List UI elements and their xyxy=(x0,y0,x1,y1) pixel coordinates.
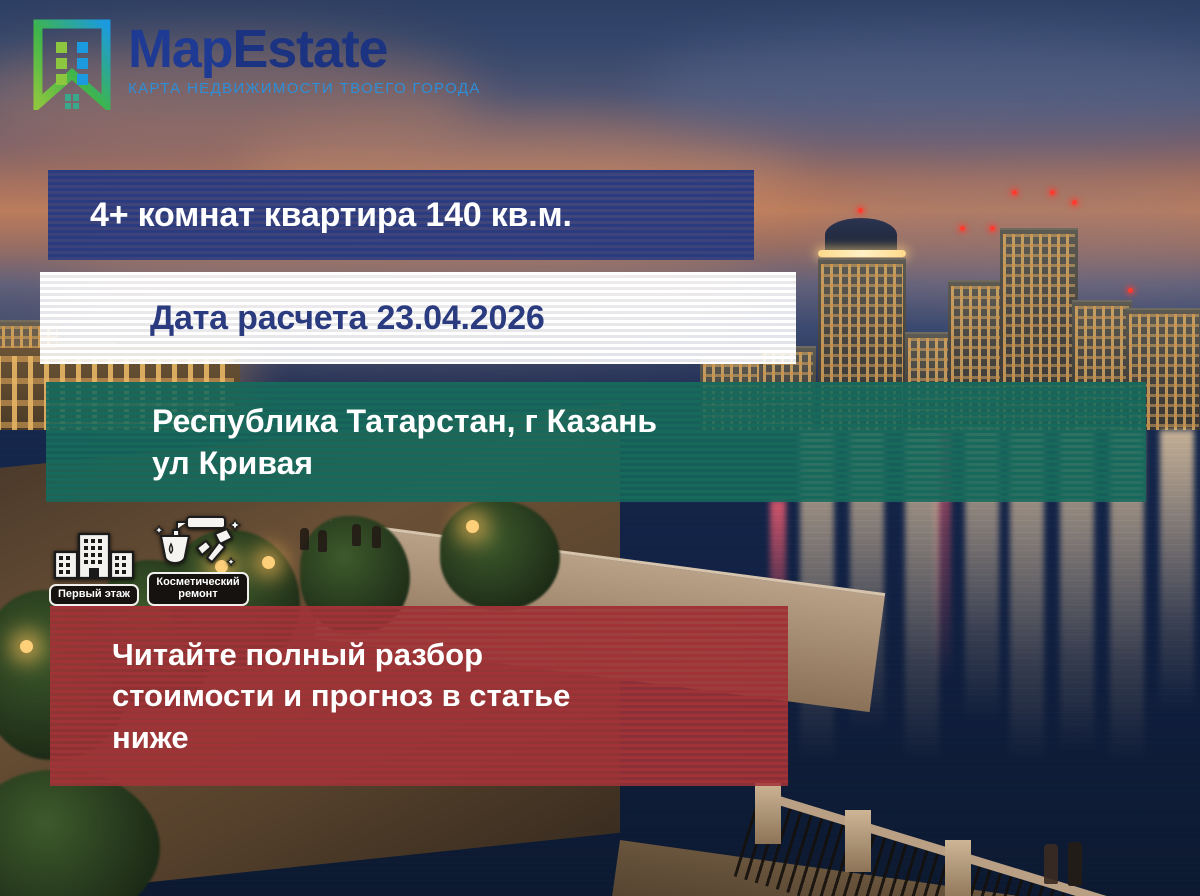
rooms-banner-text: 4+ комнат квартира 140 кв.м. xyxy=(48,196,754,235)
paint-tools-icon xyxy=(153,516,243,568)
feature-badges: Первый этаж xyxy=(48,516,244,606)
pedestrian xyxy=(352,524,361,546)
tree xyxy=(440,500,560,610)
address-banner: Республика Татарстан, г Казань ул Кривая xyxy=(46,382,1146,502)
cta-line-3: ниже xyxy=(112,717,788,758)
apartment-building-icon xyxy=(51,528,137,580)
badge-first-floor-label: Первый этаж xyxy=(49,584,139,606)
pedestrian xyxy=(300,528,309,550)
date-banner-text: Дата расчета 23.04.2026 xyxy=(40,299,796,338)
street-lamp xyxy=(262,556,275,569)
brand-name-part2: Estate xyxy=(232,19,387,79)
address-line-1: Республика Татарстан, г Казань xyxy=(152,400,1146,442)
rooms-banner: 4+ комнат квартира 140 кв.м. xyxy=(48,170,754,260)
brand-logo[interactable]: MapEstate КАРТА НЕДВИЖИМОСТИ ТВОЕГО ГОРО… xyxy=(30,18,481,110)
pedestrian xyxy=(318,530,327,552)
pedestrian xyxy=(372,526,381,548)
rail-post xyxy=(845,810,871,872)
badge-first-floor[interactable]: Первый этаж xyxy=(48,528,140,606)
rail-post xyxy=(755,782,781,844)
cta-line-2: стоимости и прогноз в статье xyxy=(112,675,788,716)
cta-banner-text: Читайте полный разбор стоимости и прогно… xyxy=(50,634,788,758)
brand-name-part1: Map xyxy=(128,19,232,79)
cta-banner: Читайте полный разбор стоимости и прогно… xyxy=(50,606,788,786)
pedestrian xyxy=(1068,842,1082,886)
address-line-2: ул Кривая xyxy=(152,442,1146,484)
rail-post xyxy=(945,840,971,896)
date-banner: Дата расчета 23.04.2026 xyxy=(40,272,796,364)
pedestrian xyxy=(1044,844,1058,884)
street-lamp xyxy=(20,640,33,653)
bookmark-building-icon xyxy=(30,18,114,110)
brand-tagline: КАРТА НЕДВИЖИМОСТИ ТВОЕГО ГОРОДА xyxy=(128,80,481,97)
address-banner-text: Республика Татарстан, г Казань ул Кривая xyxy=(46,400,1146,484)
street-lamp xyxy=(466,520,479,533)
cta-line-1: Читайте полный разбор xyxy=(112,634,788,675)
poster-canvas: MapEstate КАРТА НЕДВИЖИМОСТИ ТВОЕГО ГОРО… xyxy=(0,0,1200,896)
badge-cosmetic-repair-label: Косметический ремонт xyxy=(147,572,248,606)
brand-name: MapEstate xyxy=(128,24,481,76)
badge-cosmetic-repair[interactable]: Косметический ремонт xyxy=(152,516,244,606)
